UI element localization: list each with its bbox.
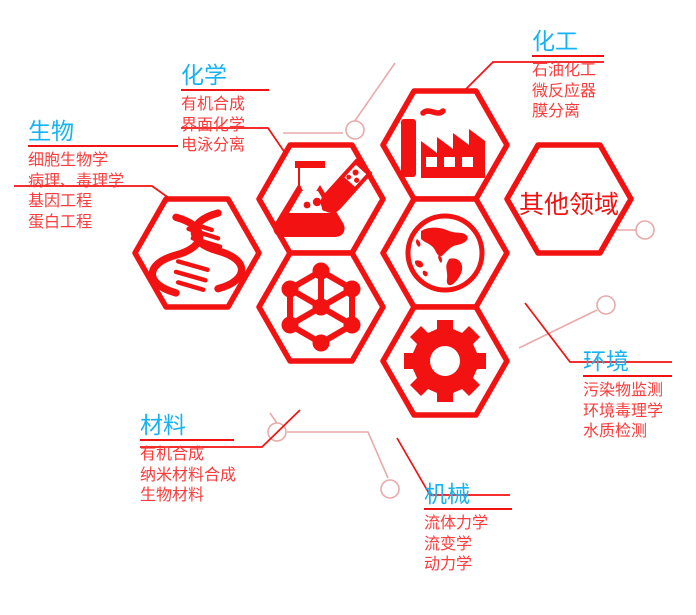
callout-item: 蛋白工程 xyxy=(28,213,188,234)
callout-item: 动力学 xyxy=(424,555,564,576)
callout-item: 环境毒理学 xyxy=(583,402,696,423)
callout-item: 纳米材料合成 xyxy=(140,466,300,487)
callout-rule-biology xyxy=(28,145,178,147)
hexagon-label-other-fields: 其他领域 xyxy=(507,185,631,221)
callout-items-chemical-engineering: 石油化工 微反应器 膜分离 xyxy=(532,61,692,123)
callout-title-chemistry: 化学 xyxy=(181,62,331,88)
callout-title-environment: 环境 xyxy=(583,348,696,374)
callout-rule-materials xyxy=(140,439,234,441)
callout-rule-environment xyxy=(583,375,672,377)
callout-item: 石油化工 xyxy=(532,61,692,82)
callout-chemistry[interactable]: 化学 有机合成 界面化学 电泳分离 xyxy=(181,62,331,157)
callout-item: 病理、毒理学 xyxy=(28,172,188,193)
callout-item: 细胞生物学 xyxy=(28,151,188,172)
callout-chemical-engineering[interactable]: 化工 石油化工 微反应器 膜分离 xyxy=(532,28,692,123)
callout-item: 有机合成 xyxy=(181,95,331,116)
callout-item: 流变学 xyxy=(424,535,564,556)
callout-item: 流体力学 xyxy=(424,514,564,535)
callout-item: 电泳分离 xyxy=(181,136,331,157)
callout-items-biology: 细胞生物学 病理、毒理学 基因工程 蛋白工程 xyxy=(28,151,188,233)
callout-biology[interactable]: 生物 细胞生物学 病理、毒理学 基因工程 蛋白工程 xyxy=(28,118,188,233)
callout-item: 生物材料 xyxy=(140,486,300,507)
callout-rule-mechanical xyxy=(424,508,512,510)
infographic-canvas: 其他领域 生物 细胞生物学 病理、毒理学 基因工程 蛋白工程 化学 有机合成 界… xyxy=(0,0,696,615)
callout-items-chemistry: 有机合成 界面化学 电泳分离 xyxy=(181,95,331,157)
callout-item: 水质检测 xyxy=(583,422,696,443)
callout-rule-chemical-engineering xyxy=(532,55,604,57)
callout-item: 膜分离 xyxy=(532,102,692,123)
callout-materials[interactable]: 材料 有机合成 纳米材料合成 生物材料 xyxy=(140,412,300,507)
callout-items-environment: 污染物监测 环境毒理学 水质检测 xyxy=(583,381,696,443)
callout-title-chemical-engineering: 化工 xyxy=(532,28,692,54)
callout-environment[interactable]: 环境 污染物监测 环境毒理学 水质检测 xyxy=(583,348,696,443)
callout-title-materials: 材料 xyxy=(140,412,300,438)
callout-title-biology: 生物 xyxy=(28,118,188,144)
callout-item: 基因工程 xyxy=(28,192,188,213)
gear-icon xyxy=(404,320,486,402)
callout-item: 污染物监测 xyxy=(583,381,696,402)
callout-items-materials: 有机合成 纳米材料合成 生物材料 xyxy=(140,445,300,507)
callout-rule-chemistry xyxy=(181,89,269,91)
callout-items-mechanical: 流体力学 流变学 动力学 xyxy=(424,514,564,576)
callout-item: 微反应器 xyxy=(532,82,692,103)
callout-item: 界面化学 xyxy=(181,116,331,137)
callout-mechanical[interactable]: 机械 流体力学 流变学 动力学 xyxy=(424,481,564,576)
callout-item: 有机合成 xyxy=(140,445,300,466)
callout-title-mechanical: 机械 xyxy=(424,481,564,507)
